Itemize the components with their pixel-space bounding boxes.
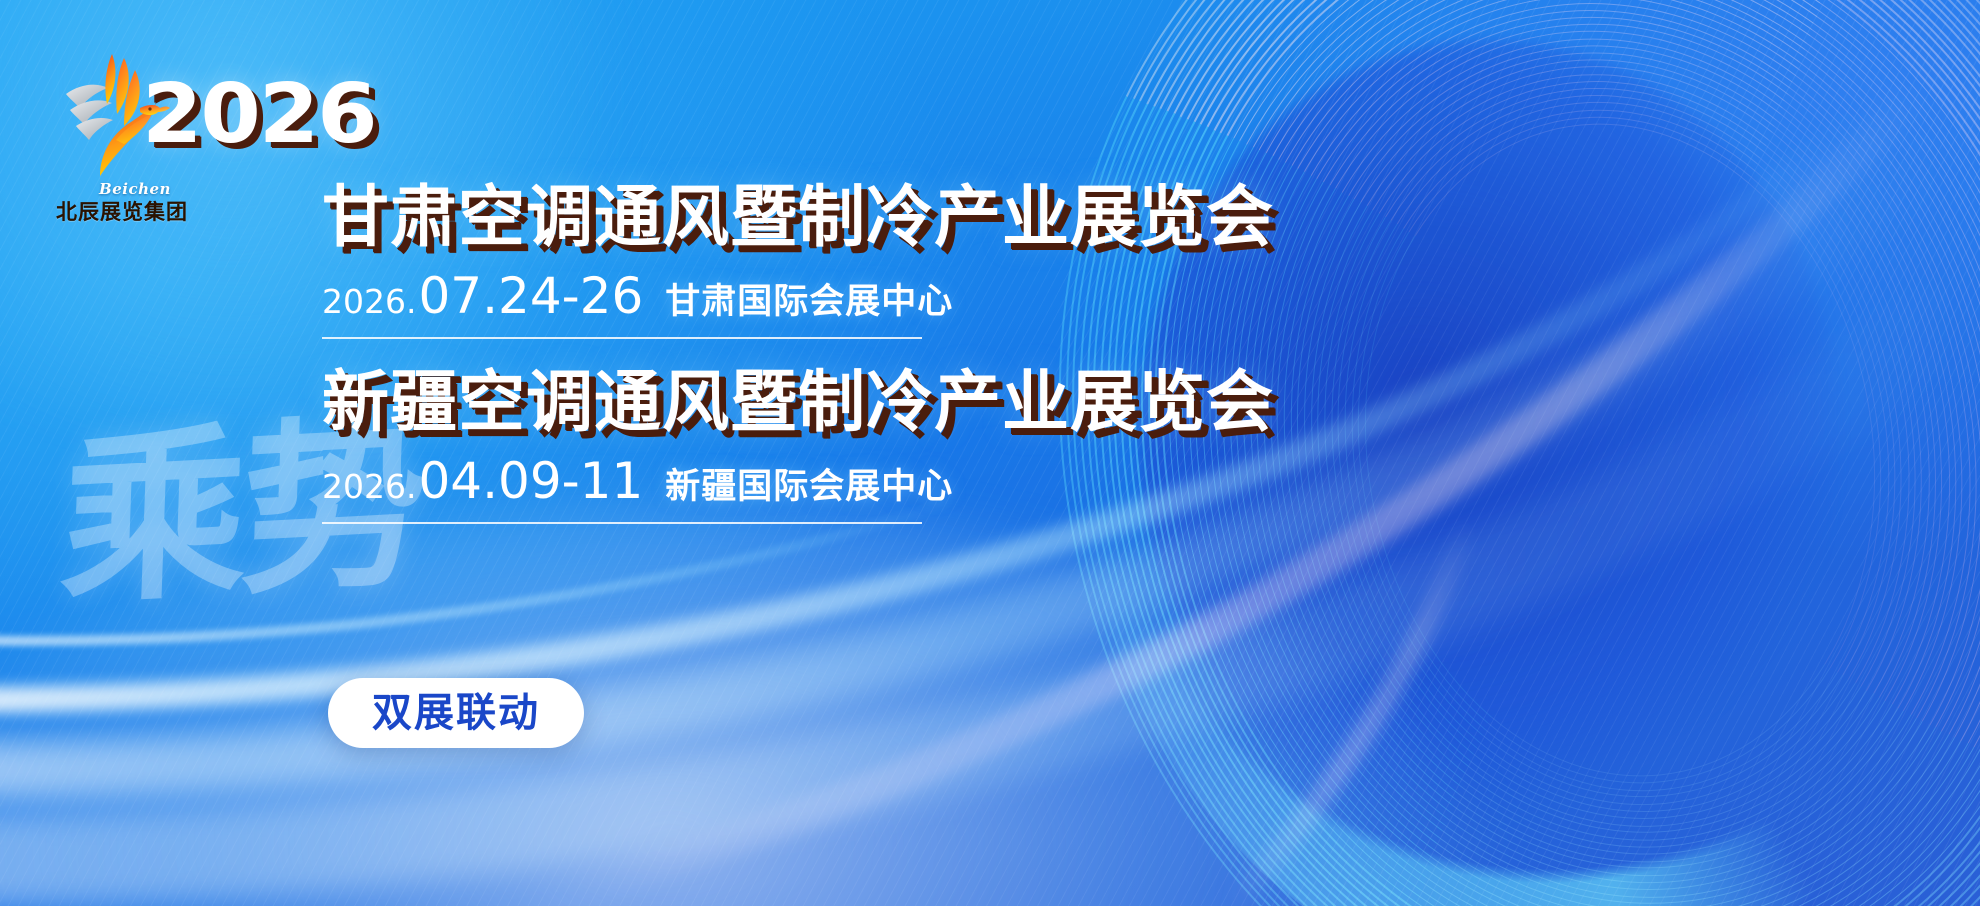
- ring-arc: [1310, 78, 1929, 823]
- show-meta: 2026. 04.09-11 新疆国际会展中心: [322, 452, 922, 524]
- ring-arc: [1276, 43, 1964, 858]
- show-year: 2026.: [322, 282, 416, 321]
- dual-show-badge[interactable]: 双展联动: [328, 678, 584, 748]
- logo-script-text: Beichen: [78, 182, 192, 197]
- ring-arc: [1250, 16, 1980, 884]
- ring-arc: [1285, 51, 1956, 848]
- show-block-xinjiang: 新疆空调通风暨制冷产业展览会 2026. 04.09-11 新疆国际会展中心: [322, 365, 1322, 524]
- ring-arc: [1224, 0, 1980, 906]
- show-year: 2026.: [322, 467, 416, 506]
- show-meta: 2026. 07.24-26 甘肃国际会展中心: [322, 267, 922, 339]
- show-venue: 新疆国际会展中心: [665, 458, 953, 509]
- ring-arc: [1267, 34, 1972, 866]
- show-block-gansu: 甘肃空调通风暨制冷产业展览会 2026. 07.24-26 甘肃国际会展中心: [322, 180, 1322, 339]
- show-venue: 甘肃国际会展中心: [665, 273, 953, 324]
- year-badge: 2026: [142, 74, 375, 156]
- logo-caption: Beichen 北辰展览集团: [52, 182, 192, 223]
- ring-arc: [1206, 0, 1980, 906]
- show-title: 甘肃空调通风暨制冷产业展览会: [322, 180, 1322, 255]
- show-date: 07.24-26: [418, 267, 643, 325]
- ring-arc: [1319, 86, 1921, 813]
- ring-arc: [1215, 0, 1980, 906]
- show-date: 04.09-11: [418, 452, 643, 510]
- show-list: 甘肃空调通风暨制冷产业展览会 2026. 07.24-26 甘肃国际会展中心 新…: [322, 180, 1322, 524]
- dual-show-badge-label: 双展联动: [372, 693, 540, 733]
- logo-chinese-name: 北辰展览集团: [52, 202, 192, 223]
- ring-arc: [1232, 0, 1980, 902]
- exhibition-banner: Beichen 北辰展览集团 2026 乘势 甘肃空调通风暨制冷产业展览会 20…: [0, 0, 1980, 906]
- ring-arc: [1293, 60, 1947, 840]
- ring-arc: [1241, 7, 1980, 893]
- show-title: 新疆空调通风暨制冷产业展览会: [322, 365, 1322, 440]
- ring-arc: [1259, 25, 1980, 875]
- ring-arc: [1302, 69, 1938, 831]
